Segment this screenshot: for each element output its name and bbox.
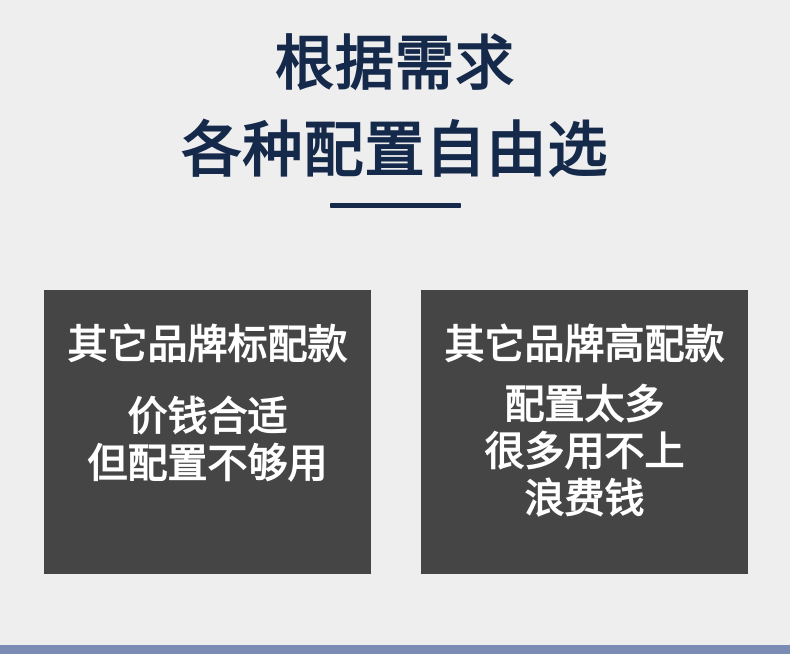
- card-title: 其它品牌高配款: [445, 322, 725, 368]
- card-body-line: 价钱合适: [88, 394, 328, 441]
- card-body-line: 但配置不够用: [88, 441, 328, 488]
- card-body: 价钱合适 但配置不够用: [88, 394, 328, 488]
- card-body-line: 配置太多: [485, 382, 685, 429]
- bottom-accent-bar: [0, 645, 790, 654]
- headline-block: 根据需求 各种配置自由选: [0, 0, 790, 208]
- card-body: 配置太多 很多用不上 浪费钱: [485, 382, 685, 523]
- card-body-line: 浪费钱: [485, 476, 685, 523]
- card-other-brand-premium: 其它品牌高配款 配置太多 很多用不上 浪费钱: [421, 290, 748, 574]
- headline-divider: [330, 203, 461, 208]
- headline-line-2: 各种配置自由选: [0, 117, 790, 185]
- card-other-brand-standard: 其它品牌标配款 价钱合适 但配置不够用: [44, 290, 371, 574]
- comparison-cards: 其它品牌标配款 价钱合适 但配置不够用 其它品牌高配款 配置太多 很多用不上 浪…: [44, 290, 748, 574]
- headline-line-1: 根据需求: [0, 31, 790, 97]
- promo-banner: 根据需求 各种配置自由选 其它品牌标配款 价钱合适 但配置不够用 其它品牌高配款…: [0, 0, 790, 654]
- card-body-line: 很多用不上: [485, 429, 685, 476]
- card-title: 其它品牌标配款: [68, 322, 348, 368]
